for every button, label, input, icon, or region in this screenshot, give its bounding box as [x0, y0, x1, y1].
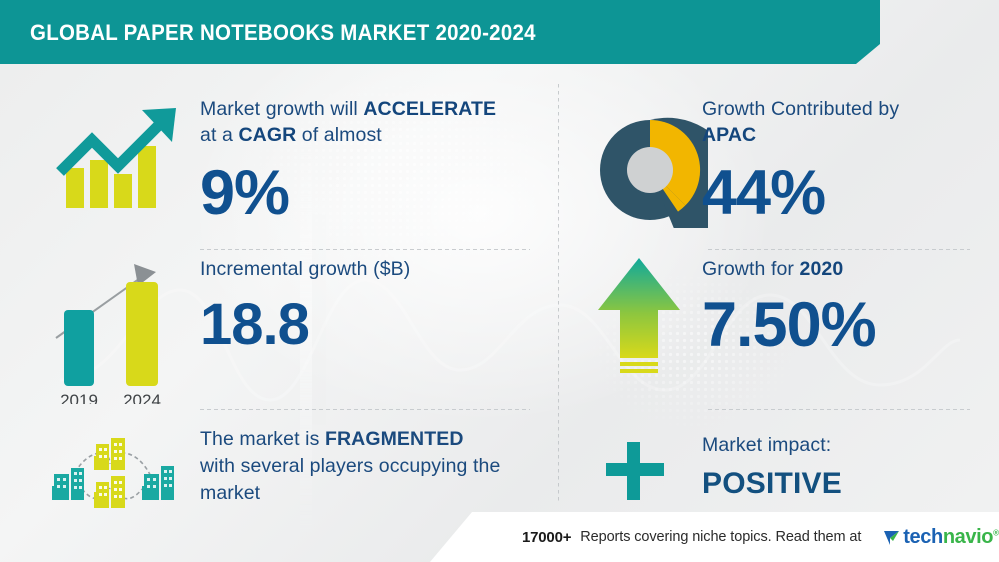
logo-tech-text: tech	[903, 526, 943, 548]
logo-trademark: ®	[993, 528, 999, 537]
footer-bar: 17000+ Reports covering niche topics. Re…	[430, 512, 999, 562]
apac-headline: Growth Contributed by APAC	[702, 96, 899, 148]
fragmented-buildings-icon	[32, 434, 192, 519]
cagr-label: CAGR	[238, 124, 296, 146]
content-area: Market growth will ACCELERATE at a CAGR …	[0, 64, 999, 562]
right-divider-1	[708, 249, 970, 250]
market-impact-value: POSITIVE	[702, 467, 842, 501]
footer-text: Reports covering niche topics. Read them…	[580, 529, 861, 545]
growth-2020-label: Growth for 2020	[702, 256, 843, 282]
cagr-headline-accelerate: ACCELERATE	[363, 98, 496, 120]
cagr-headline-pre: Market growth will	[200, 98, 363, 120]
plus-icon	[600, 436, 670, 511]
left-divider-1	[200, 249, 530, 250]
report-count: 17000+	[522, 529, 571, 546]
market-structure-statement: The market is FRAGMENTED with several pl…	[200, 426, 540, 507]
bar-label-2019: 2019	[60, 391, 98, 404]
technavio-flag-icon	[882, 528, 901, 547]
page-title: GLOBAL PAPER NOTEBOOKS MARKET 2020-2024	[30, 20, 536, 46]
cagr-headline: Market growth will ACCELERATE at a CAGR …	[200, 96, 496, 148]
growth-arrow-chart-icon	[30, 102, 190, 217]
apac-label: APAC	[702, 124, 756, 146]
market-impact-label: Market impact:	[702, 432, 831, 458]
right-divider-2	[708, 409, 970, 410]
incremental-growth-value: 18.8	[200, 296, 309, 354]
apac-headline-line1: Growth Contributed by	[702, 96, 899, 122]
apac-value: 44%	[702, 162, 825, 225]
incremental-growth-label: Incremental growth ($B)	[200, 256, 410, 282]
structure-pre: The market is	[200, 428, 325, 450]
column-divider	[558, 84, 559, 504]
up-arrow-icon	[594, 254, 684, 389]
infographic-canvas: GLOBAL PAPER NOTEBOOKS MARKET 2020-2024 …	[0, 0, 999, 562]
two-bar-chart-icon: 2019 2024	[34, 254, 184, 409]
technavio-logo[interactable]: technavio®	[882, 526, 998, 549]
structure-fragmented: FRAGMENTED	[325, 428, 464, 450]
cagr-line2-pre: at a	[200, 124, 238, 146]
cagr-line2-post: of almost	[296, 124, 382, 146]
donut-chart-icon	[592, 112, 708, 233]
structure-post: with several players occupying the marke…	[200, 455, 500, 504]
bar-label-2024: 2024	[123, 391, 161, 404]
logo-navio-text: navio	[943, 526, 993, 548]
growth-2020-pre: Growth for	[702, 258, 800, 280]
left-divider-2	[200, 409, 530, 410]
growth-2020-value: 7.50%	[702, 294, 876, 357]
growth-2020-year: 2020	[800, 258, 844, 280]
cagr-value: 9%	[200, 162, 289, 225]
